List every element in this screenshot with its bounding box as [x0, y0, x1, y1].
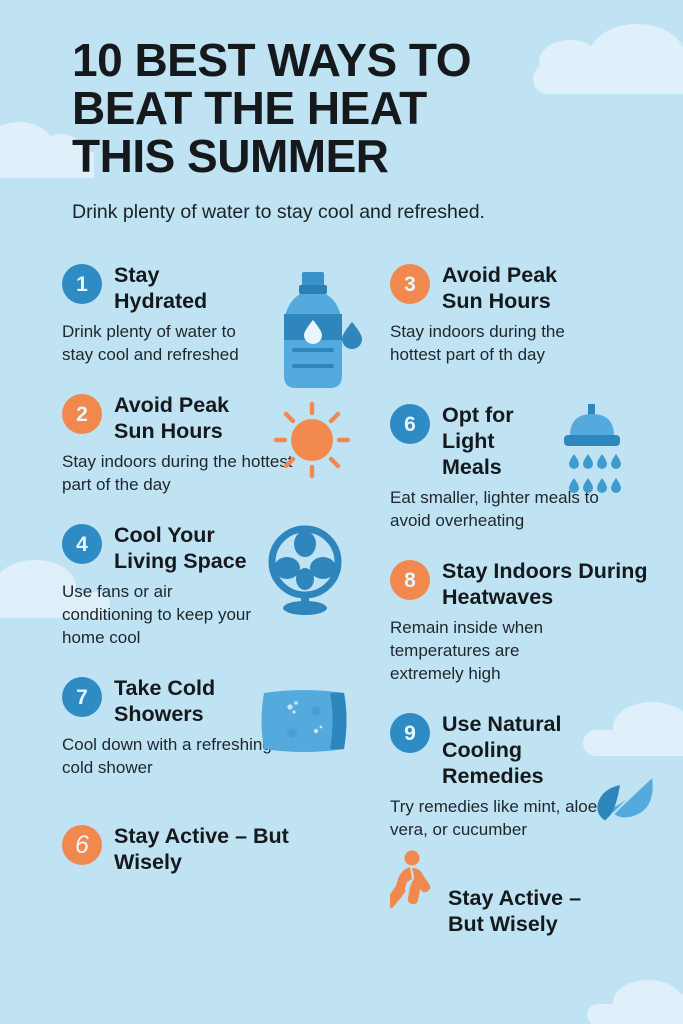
page-subtitle: Drink plenty of water to stay cool and r… [72, 200, 643, 224]
tip-number-badge: 2 [62, 394, 102, 434]
tip-item: 6 Opt for Light Meals Eat smaller, light… [390, 402, 682, 532]
tip-title: Cool Your Living Space [114, 522, 274, 574]
tip-description: Try remedies like mint, aloe vera, or cu… [390, 795, 630, 841]
tip-title: Avoid Peak Sun Hours [442, 262, 592, 314]
tip-description: Drink plenty of water to stay cool and r… [62, 320, 262, 366]
tip-item: 2 Avoid Peak Sun Hours Stay indoors duri… [62, 392, 362, 496]
tip-title: Take Cold Showers [114, 675, 264, 727]
tip-number-badge: 8 [390, 560, 430, 600]
poster-header: 10 BEST WAYS TO BEAT THE HEAT THIS SUMME… [72, 36, 643, 224]
tip-number-badge: 4 [62, 524, 102, 564]
infographic-poster: 10 BEST WAYS TO BEAT THE HEAT THIS SUMME… [0, 0, 683, 1024]
tip-description: Use fans or air conditioning to keep you… [62, 580, 262, 649]
tip-number-badge: 3 [390, 264, 430, 304]
tip-title: Stay Hydrated [114, 262, 244, 314]
tip-header: 3 Avoid Peak Sun Hours [390, 262, 682, 314]
tip-header: 2 Avoid Peak Sun Hours [62, 392, 362, 444]
tip-title: Stay Active – But Wisely [114, 823, 334, 875]
tip-header: 6 Stay Active – But Wisely [62, 823, 362, 875]
tip-description: Remain inside when temperatures are extr… [390, 616, 580, 685]
tip-header: Stay Active – But Wisely [390, 867, 682, 937]
tip-title: Opt for Light Meals [442, 402, 532, 480]
tip-number-badge: 7 [62, 677, 102, 717]
tip-header: 7 Take Cold Showers [62, 675, 362, 727]
tip-header: 8 Stay Indoors During Heatwaves [390, 558, 682, 610]
tip-header: 1 Stay Hydrated [62, 262, 362, 314]
tip-description: Eat smaller, lighter meals to avoid over… [390, 486, 640, 532]
tip-item: 7 Take Cold Showers Cool down with a ref… [62, 675, 362, 779]
tips-column-left: 1 Stay Hydrated Drink plenty of water to… [62, 262, 362, 875]
tip-item: 3 Avoid Peak Sun Hours Stay indoors duri… [390, 262, 682, 366]
tip-title: Stay Active – But Wisely [448, 885, 618, 937]
cloud-decoration [587, 1004, 683, 1024]
tip-item: 9 Use Natural Cooling Remedies Try remed… [390, 711, 682, 841]
page-title: 10 BEST WAYS TO BEAT THE HEAT THIS SUMME… [72, 36, 643, 180]
tip-header: 9 Use Natural Cooling Remedies [390, 711, 682, 789]
tip-item: 6 Stay Active – But Wisely [62, 823, 362, 875]
tip-title: Stay Indoors During Heatwaves [442, 558, 667, 610]
tip-description: Cool down with a refreshing cold shower [62, 733, 300, 779]
tip-title: Avoid Peak Sun Hours [114, 392, 264, 444]
walking-person-icon [390, 861, 436, 901]
tips-column-right: 3 Avoid Peak Sun Hours Stay indoors duri… [390, 262, 682, 937]
tip-header: 6 Opt for Light Meals [390, 402, 682, 480]
tip-number-badge: 6 [62, 825, 102, 865]
tip-number-badge: 1 [62, 264, 102, 304]
tip-description: Stay indoors during the hottest part of … [390, 320, 618, 366]
tip-header: 4 Cool Your Living Space [62, 522, 362, 574]
tip-description: Stay indoors during the hottest part of … [62, 450, 312, 496]
tip-item: 1 Stay Hydrated Drink plenty of water to… [62, 262, 362, 366]
tip-number-badge: 6 [390, 404, 430, 444]
tip-number-badge: 9 [390, 713, 430, 753]
tip-item: 4 Cool Your Living Space Use fans or air… [62, 522, 362, 649]
tip-item: 8 Stay Indoors During Heatwaves Remain i… [390, 558, 682, 685]
tip-item: Stay Active – But Wisely [390, 867, 682, 937]
tip-title: Use Natural Cooling Remedies [442, 711, 572, 789]
